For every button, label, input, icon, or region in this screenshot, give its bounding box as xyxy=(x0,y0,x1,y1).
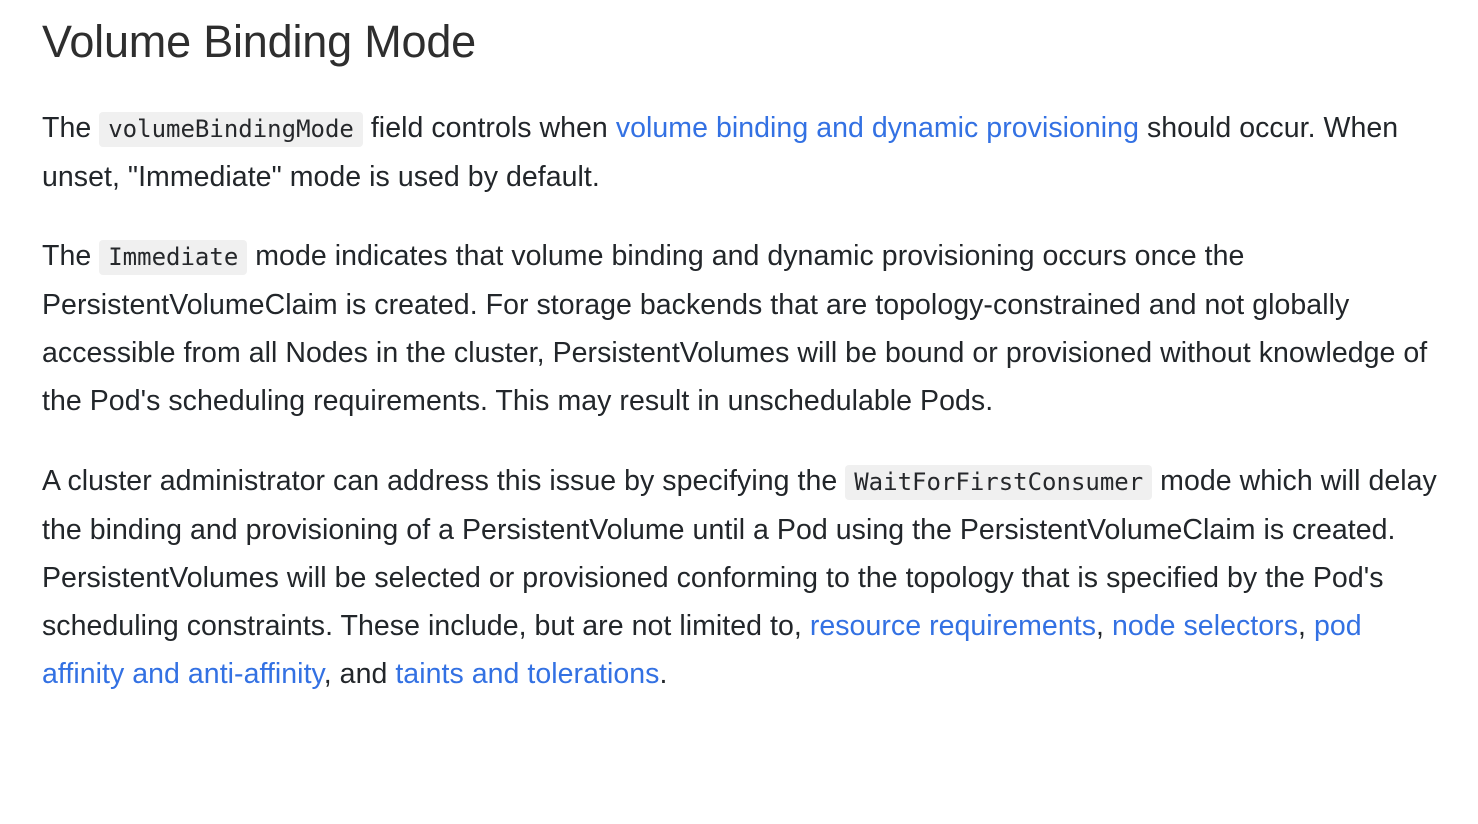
paragraph-2-text-2: mode indicates that volume binding and d… xyxy=(42,240,1427,417)
code-immediate: Immediate xyxy=(99,240,247,275)
paragraph-3-text-4: , xyxy=(1298,610,1314,642)
link-node-selectors[interactable]: node selectors xyxy=(1112,610,1298,642)
paragraph-1-text-1: The xyxy=(42,112,99,144)
document-body: Volume Binding Mode The volumeBindingMod… xyxy=(0,0,1478,698)
paragraph-immediate-mode: The Immediate mode indicates that volume… xyxy=(42,232,1440,425)
link-resource-requirements[interactable]: resource requirements xyxy=(810,610,1096,642)
code-volumebindingmode: volumeBindingMode xyxy=(99,112,363,147)
paragraph-volume-binding-mode-field: The volumeBindingMode field controls whe… xyxy=(42,104,1440,201)
code-waitforfirstconsumer: WaitForFirstConsumer xyxy=(845,465,1152,500)
paragraph-1-text-2: field controls when xyxy=(363,112,616,144)
paragraph-3-text-1: A cluster administrator can address this… xyxy=(42,465,845,497)
paragraph-2-text-1: The xyxy=(42,240,99,272)
link-taints-and-tolerations[interactable]: taints and tolerations xyxy=(395,658,659,690)
paragraph-3-text-6: . xyxy=(659,658,667,690)
link-volume-binding-and-dynamic-provisioning[interactable]: volume binding and dynamic provisioning xyxy=(616,112,1139,144)
page-title: Volume Binding Mode xyxy=(42,0,1440,68)
paragraph-3-text-3: , xyxy=(1096,610,1112,642)
paragraph-3-text-5: , and xyxy=(324,658,396,690)
paragraph-waitforfirstconsumer-mode: A cluster administrator can address this… xyxy=(42,457,1440,698)
